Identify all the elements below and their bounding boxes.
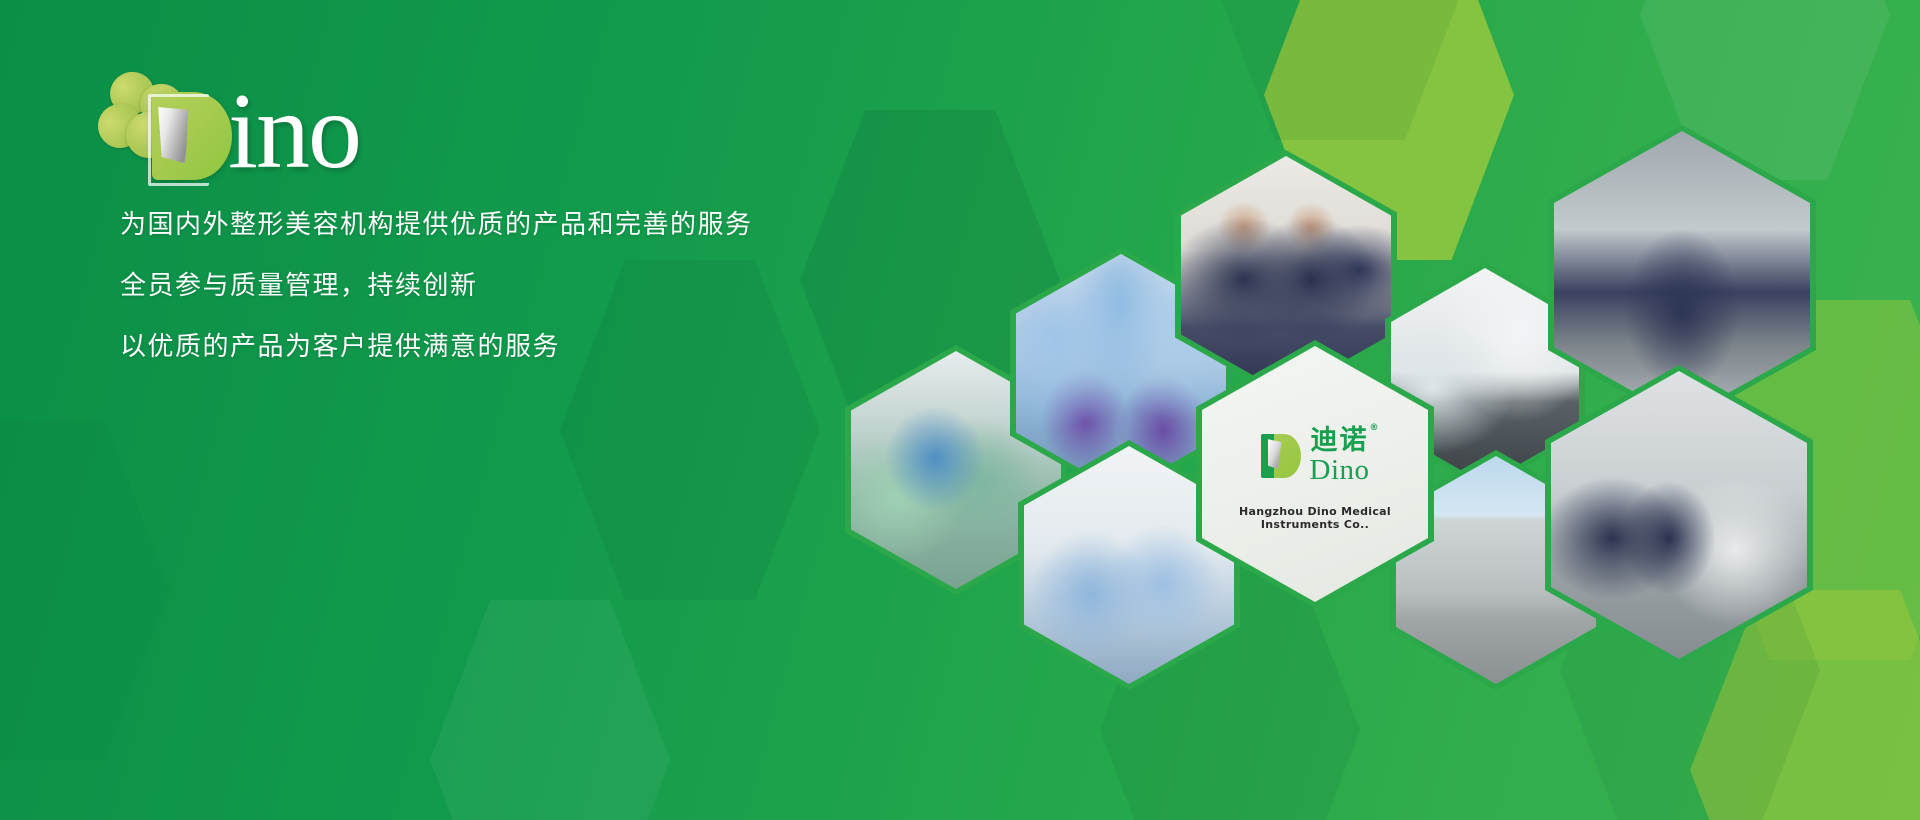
brand-name-cn: 迪诺®: [1310, 427, 1370, 454]
hero-banner: ino 为国内外整形美容机构提供优质的产品和完善的服务 全员参与质量管理，持续创…: [0, 0, 1920, 820]
brand-name-en: Dino: [1310, 456, 1370, 485]
brand-name-cn-text: 迪诺: [1311, 425, 1369, 456]
hexagon-photo-collage: 迪诺® Dino Hangzhou Dino Medical Instrumen…: [0, 0, 1920, 820]
registered-trademark-icon: ®: [1370, 424, 1381, 433]
brand-company-line: Hangzhou Dino Medical Instruments Co..: [1202, 505, 1428, 531]
brand-badge-content: 迪诺® Dino Hangzhou Dino Medical Instrumen…: [1202, 427, 1428, 531]
dino-d-mark-icon: [1261, 434, 1301, 478]
